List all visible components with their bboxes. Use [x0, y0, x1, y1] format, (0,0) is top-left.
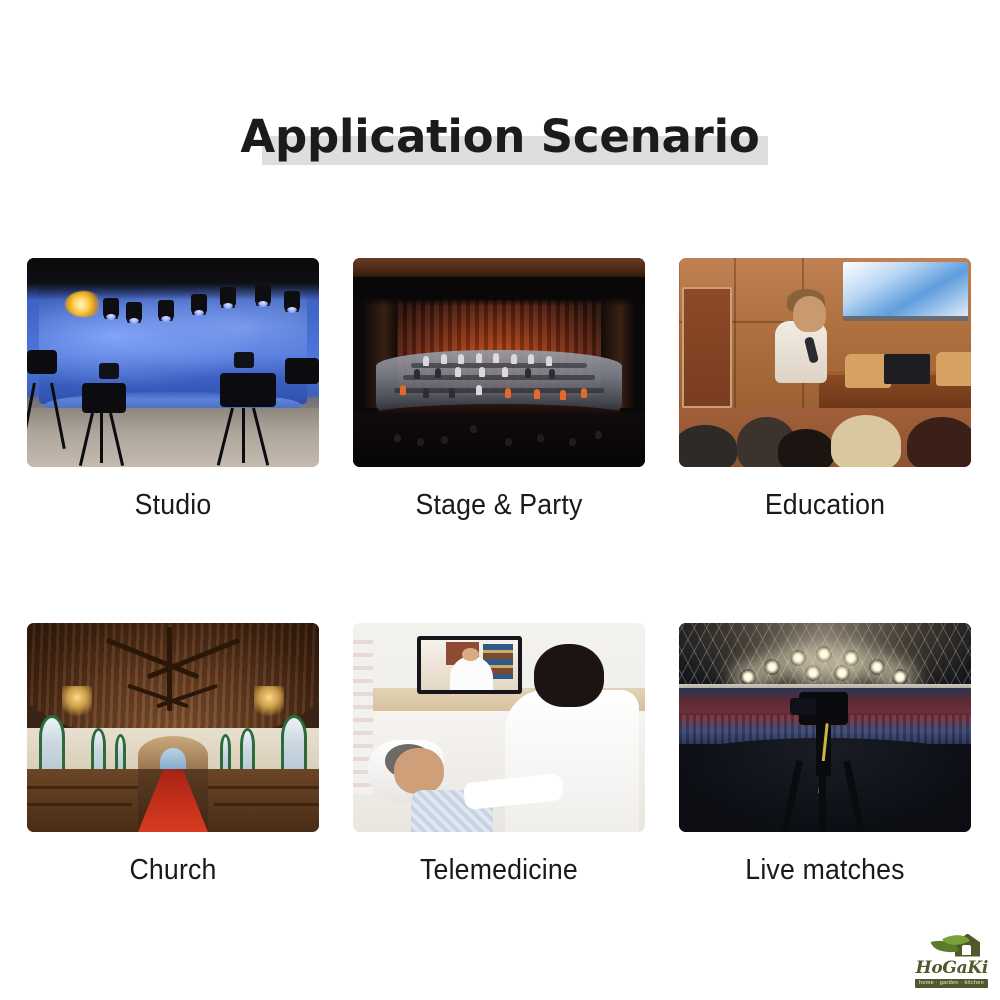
stage-performer [502, 367, 508, 377]
church-pews-left [27, 769, 138, 832]
studio-camera-body [82, 383, 126, 413]
scenario-label: Telemedicine [365, 854, 634, 887]
title-text: Application Scenario [240, 110, 759, 163]
pew-edge [214, 803, 319, 806]
education-door [682, 287, 732, 408]
gallery-row-2: Church [27, 623, 971, 887]
studio-lamp-icon [191, 294, 207, 313]
studio-side-camera [285, 358, 319, 384]
audience-head [778, 429, 833, 467]
education-photo [679, 258, 971, 467]
audience-head [569, 438, 576, 446]
stained-glass-window [91, 728, 106, 774]
stage-performer [549, 369, 555, 379]
scenario-card-education[interactable]: Education [679, 258, 971, 522]
stage-performer [560, 390, 566, 400]
stage-performer [493, 353, 499, 363]
stained-glass-window [39, 715, 65, 774]
brand-tagline: home · garden · kitchen [915, 979, 988, 989]
telemedicine-photo [353, 623, 645, 832]
scenario-card-studio[interactable]: Studio [27, 258, 319, 522]
doctor-head [534, 644, 604, 707]
scenario-label: Education [691, 489, 960, 522]
scenario-card-live-matches[interactable]: Live matches [679, 623, 971, 887]
education-chair [936, 352, 971, 386]
studio-photo [27, 258, 319, 467]
stage-performer [414, 369, 420, 379]
stage-performer [505, 388, 511, 398]
stained-glass-window [281, 715, 307, 774]
pew-edge [27, 786, 138, 789]
stage-performer [435, 368, 441, 378]
floodlight-icon [805, 665, 821, 681]
chancel-window [160, 748, 186, 771]
wall-panel-seam [734, 258, 736, 408]
stained-glass-window [240, 728, 255, 774]
page-title: Application Scenario [0, 96, 1000, 176]
stage-performer [423, 388, 429, 398]
scenario-gallery: Studio [27, 258, 971, 887]
remote-doctor-head [462, 648, 479, 661]
scenario-label: Stage & Party [365, 489, 634, 522]
studio-lamp-icon [255, 285, 271, 304]
audience-head [394, 434, 401, 442]
stained-glass-window [115, 734, 127, 774]
studio-lamp-icon [103, 298, 119, 317]
scenario-label: Live matches [691, 854, 960, 887]
stage-riser [411, 363, 586, 368]
stage-performer [528, 354, 534, 364]
patient-head [394, 748, 444, 794]
scenario-card-church[interactable]: Church [27, 623, 319, 887]
gallery-row-1: Studio [27, 258, 971, 522]
church-pews-right [208, 769, 319, 832]
studio-camera-head [234, 352, 254, 368]
studio-lamp-icon [284, 291, 300, 310]
stage-performer [455, 367, 461, 377]
audience-head [470, 425, 477, 433]
floodlight-icon [869, 659, 885, 675]
church-photo [27, 623, 319, 832]
stage-performer [449, 388, 455, 398]
studio-lamp-icon [158, 300, 174, 319]
stage-performer [534, 389, 540, 399]
audience-head [537, 434, 544, 442]
studio-lamp-icon [220, 287, 236, 306]
scenario-label: Church [39, 854, 308, 887]
stage-performer [476, 353, 482, 363]
tv-screen [421, 640, 518, 691]
scenario-card-stage-party[interactable]: Stage & Party [353, 258, 645, 522]
studio-camera-head [99, 363, 119, 379]
audience-head [417, 438, 424, 446]
stage-performer [476, 385, 482, 395]
education-laptop [884, 354, 930, 384]
floodlight-icon [764, 659, 780, 675]
audience-head [505, 438, 512, 446]
stained-glass-window [220, 734, 232, 774]
pew-edge [27, 803, 132, 806]
camera-tripod-leg [819, 761, 826, 832]
stage-performer [511, 354, 517, 364]
stage-performer [400, 385, 406, 395]
stage-performer [423, 356, 429, 366]
stage-performer [581, 388, 587, 398]
studio-tripod-leg [242, 408, 245, 462]
studio-tripod-leg [100, 413, 103, 463]
poster-canvas: Application Scenario [0, 0, 1000, 1000]
audience-head [907, 417, 971, 467]
stage-performer [525, 368, 531, 378]
studio-lamp-icon [126, 302, 142, 321]
brand-name: HoGaKi [916, 960, 988, 977]
studio-side-camera [27, 350, 57, 374]
floodlight-icon [843, 650, 859, 666]
stage-performer [458, 354, 464, 364]
house-leaf-logo-icon [930, 933, 982, 959]
stage-top-mask [353, 277, 645, 306]
studio-floor [27, 408, 319, 467]
pew-edge [208, 786, 319, 789]
scenario-card-telemedicine[interactable]: Telemedicine [353, 623, 645, 887]
stage-photo [353, 258, 645, 467]
church-vaulted-ceiling [27, 623, 319, 744]
studio-camera-body [220, 373, 276, 407]
stadium-photo [679, 623, 971, 832]
audience-head [441, 436, 448, 444]
chandelier-icon [62, 686, 92, 720]
stage-performer [479, 367, 485, 377]
floodlight-icon [790, 650, 806, 666]
broadcast-camera-lens [790, 698, 816, 715]
projection-screen [843, 262, 969, 321]
stage-performer [441, 354, 447, 364]
wall-mounted-tv [417, 636, 522, 695]
brand-watermark: HoGaKi home · garden · kitchen [888, 926, 988, 988]
presenter-head [793, 296, 826, 332]
floodlight-icon [834, 665, 850, 681]
stage-performer [546, 356, 552, 366]
audience-head [831, 415, 901, 467]
stage-riser [403, 375, 596, 380]
doctor-coat [505, 690, 639, 832]
audience-head [679, 425, 737, 467]
chandelier-icon [254, 686, 284, 720]
scenario-label: Studio [39, 489, 308, 522]
